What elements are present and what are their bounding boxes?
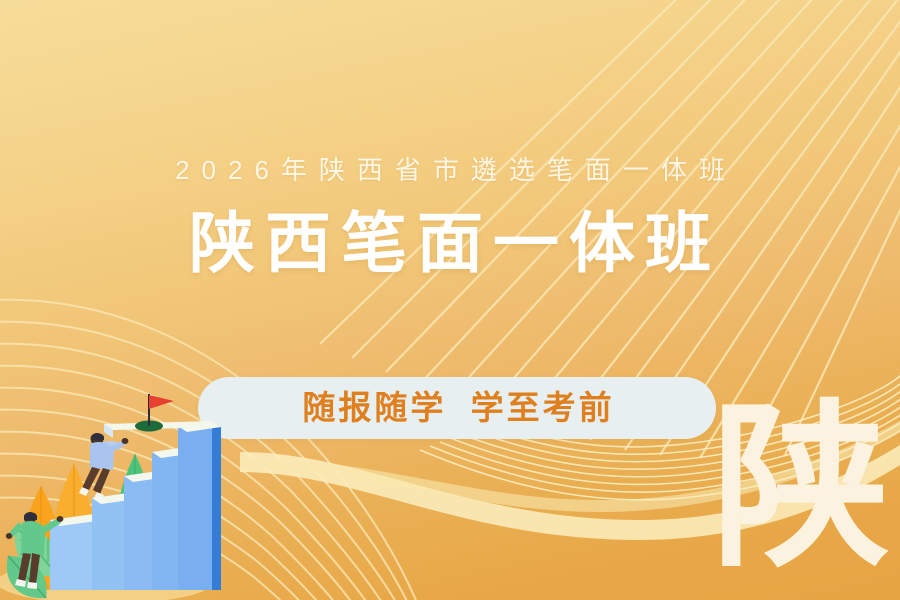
growth-staircase-illustration — [0, 390, 230, 600]
tagline-pill[interactable]: 随报随学 学至考前 — [198, 377, 716, 439]
promo-banner: 2026年陕西省市遴选笔面一体班 陕西笔面一体班 随报随学 学至考前 陕 — [0, 0, 900, 600]
headline-block: 2026年陕西省市遴选笔面一体班 陕西笔面一体班 — [0, 150, 900, 282]
banner-subtitle: 2026年陕西省市遴选笔面一体班 — [0, 150, 900, 190]
banner-title: 陕西笔面一体班 — [0, 204, 900, 282]
person-blue-climbing — [79, 433, 128, 500]
province-stamp-character: 陕 — [712, 392, 900, 592]
tagline-pill-label: 随报随学 学至考前 — [299, 390, 614, 426]
flag-cloth — [149, 395, 174, 409]
